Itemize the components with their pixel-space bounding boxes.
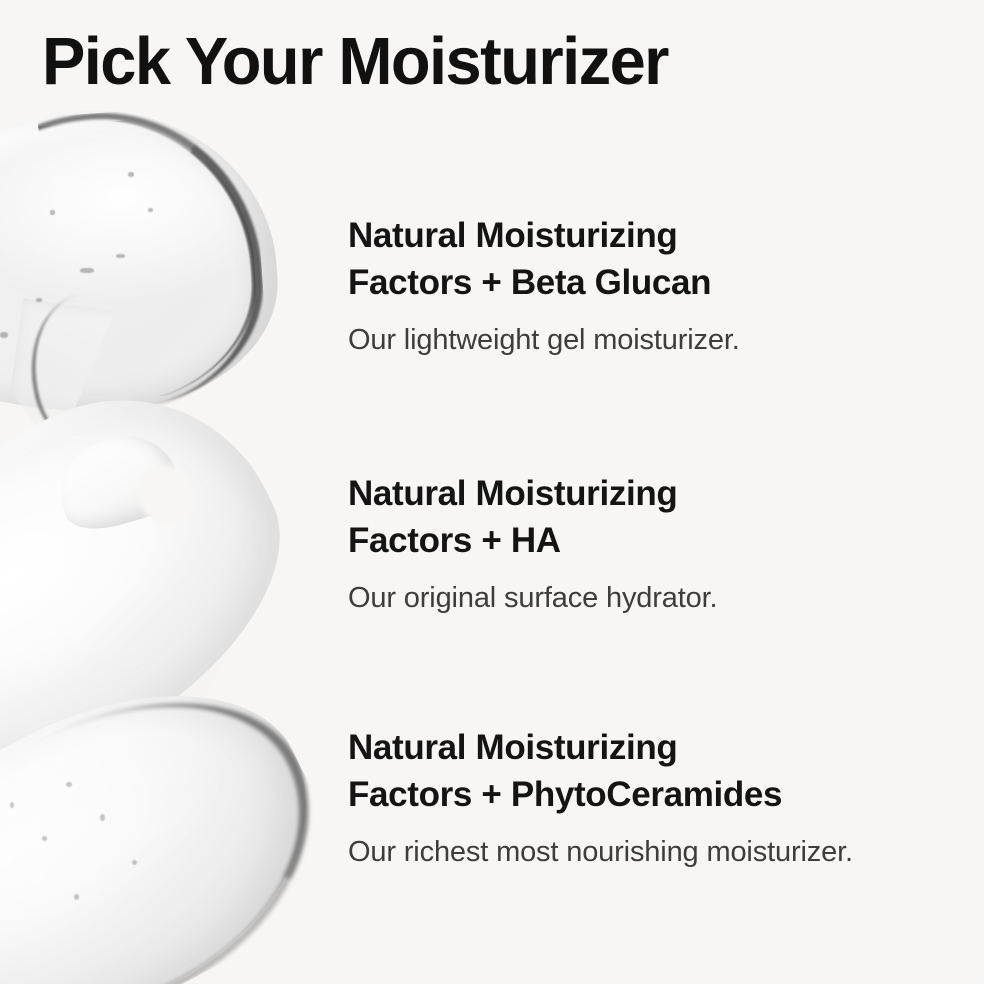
product-name: Natural Moisturizing Factors + HA [348, 470, 948, 564]
gel-speck [36, 298, 42, 302]
cream-speck [42, 836, 47, 841]
product-description: Our lightweight gel moisturizer. [348, 320, 948, 360]
gel-speck [0, 332, 8, 338]
product-name: Natural Moisturizing Factors + PhytoCera… [348, 724, 948, 818]
gel-speck [50, 210, 55, 215]
cream-speck [132, 860, 137, 865]
gel-speck [148, 208, 153, 212]
cream-notch [129, 457, 201, 534]
product-name: Natural Moisturizing Factors + Beta Gluc… [348, 212, 948, 306]
product-item: Natural Moisturizing Factors + Beta Gluc… [348, 212, 948, 360]
rich-cream-rim [0, 637, 365, 984]
moisturizer-comparison-graphic: Pick Your Moisturizer [0, 0, 984, 984]
product-description: Our richest most nourishing moisturizer. [348, 832, 948, 872]
cream-speck [66, 782, 72, 787]
clear-gel-swatch [0, 112, 280, 452]
cream-speck [100, 814, 105, 821]
swatch-column [0, 0, 350, 984]
page-title: Pick Your Moisturizer [42, 27, 668, 97]
cream-peak [48, 423, 185, 538]
cream-body [0, 336, 327, 834]
gel-tail-edge [14, 282, 161, 455]
white-cream-swatch [0, 430, 300, 760]
rich-cream-highlight [0, 680, 248, 953]
product-list: Natural Moisturizing Factors + Beta Gluc… [348, 0, 948, 984]
cream-shadow [0, 463, 253, 758]
gel-speck [128, 172, 134, 177]
cream-speck [10, 802, 14, 808]
gel-body [0, 99, 286, 426]
cream-speck [74, 894, 79, 900]
gel-tail [2, 298, 171, 467]
gel-rim-inner [0, 106, 264, 418]
product-item: Natural Moisturizing Factors + HA Our or… [348, 470, 948, 618]
product-description: Our original surface hydrator. [348, 578, 948, 618]
gel-speck [80, 268, 94, 273]
rich-cream-body [0, 629, 363, 984]
product-item: Natural Moisturizing Factors + PhytoCera… [348, 724, 948, 872]
rich-cream-swatch [0, 718, 340, 984]
gel-speck [116, 254, 125, 258]
gel-rim [0, 102, 271, 423]
